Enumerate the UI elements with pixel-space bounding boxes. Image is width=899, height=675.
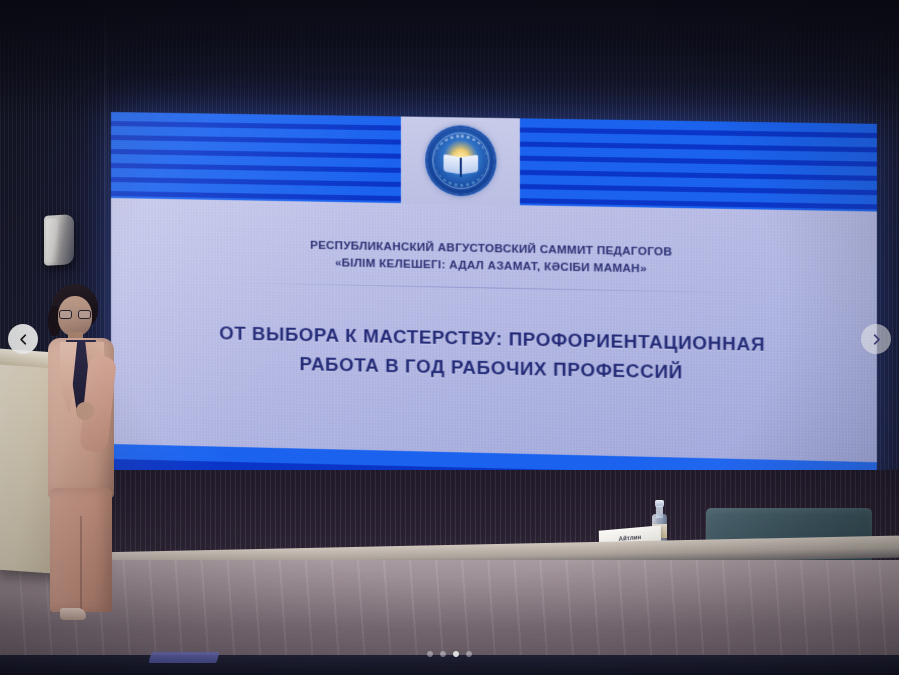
emblem-plate bbox=[401, 116, 520, 205]
presenter-shoe bbox=[60, 608, 86, 620]
stage-floor bbox=[0, 560, 899, 675]
ministry-seal-icon bbox=[427, 127, 494, 195]
presenter-hand bbox=[76, 402, 94, 420]
carousel-dot[interactable] bbox=[427, 651, 433, 657]
slide-top-blue-band bbox=[111, 112, 877, 212]
carousel-dot-active[interactable] bbox=[453, 651, 459, 657]
presenter-trousers bbox=[50, 488, 112, 612]
chevron-right-icon bbox=[870, 333, 883, 346]
slide-divider bbox=[232, 282, 753, 293]
carousel-dot[interactable] bbox=[466, 651, 472, 657]
presenter bbox=[40, 282, 126, 622]
carousel-next-button[interactable] bbox=[861, 324, 891, 354]
ceiling-shadow bbox=[0, 0, 899, 120]
chevron-left-icon bbox=[17, 333, 30, 346]
slide-content-area: РЕСПУБЛИКАНСКИЙ АВГУСТОВСКИЙ САММИТ ПЕДА… bbox=[111, 198, 877, 462]
slide-title: ОТ ВЫБОРА К МАСТЕРСТВУ: ПРОФОРИЕНТАЦИОНН… bbox=[164, 317, 823, 390]
carousel-prev-button[interactable] bbox=[8, 324, 38, 354]
photo-canvas: РЕСПУБЛИКАНСКИЙ АВГУСТОВСКИЙ САММИТ ПЕДА… bbox=[0, 0, 899, 675]
wall-speaker-icon bbox=[44, 214, 74, 266]
projection-screen: РЕСПУБЛИКАНСКИЙ АВГУСТОВСКИЙ САММИТ ПЕДА… bbox=[111, 112, 877, 499]
carousel-dot[interactable] bbox=[440, 651, 446, 657]
glasses-icon bbox=[59, 310, 91, 319]
carousel-pagination[interactable] bbox=[0, 651, 899, 657]
